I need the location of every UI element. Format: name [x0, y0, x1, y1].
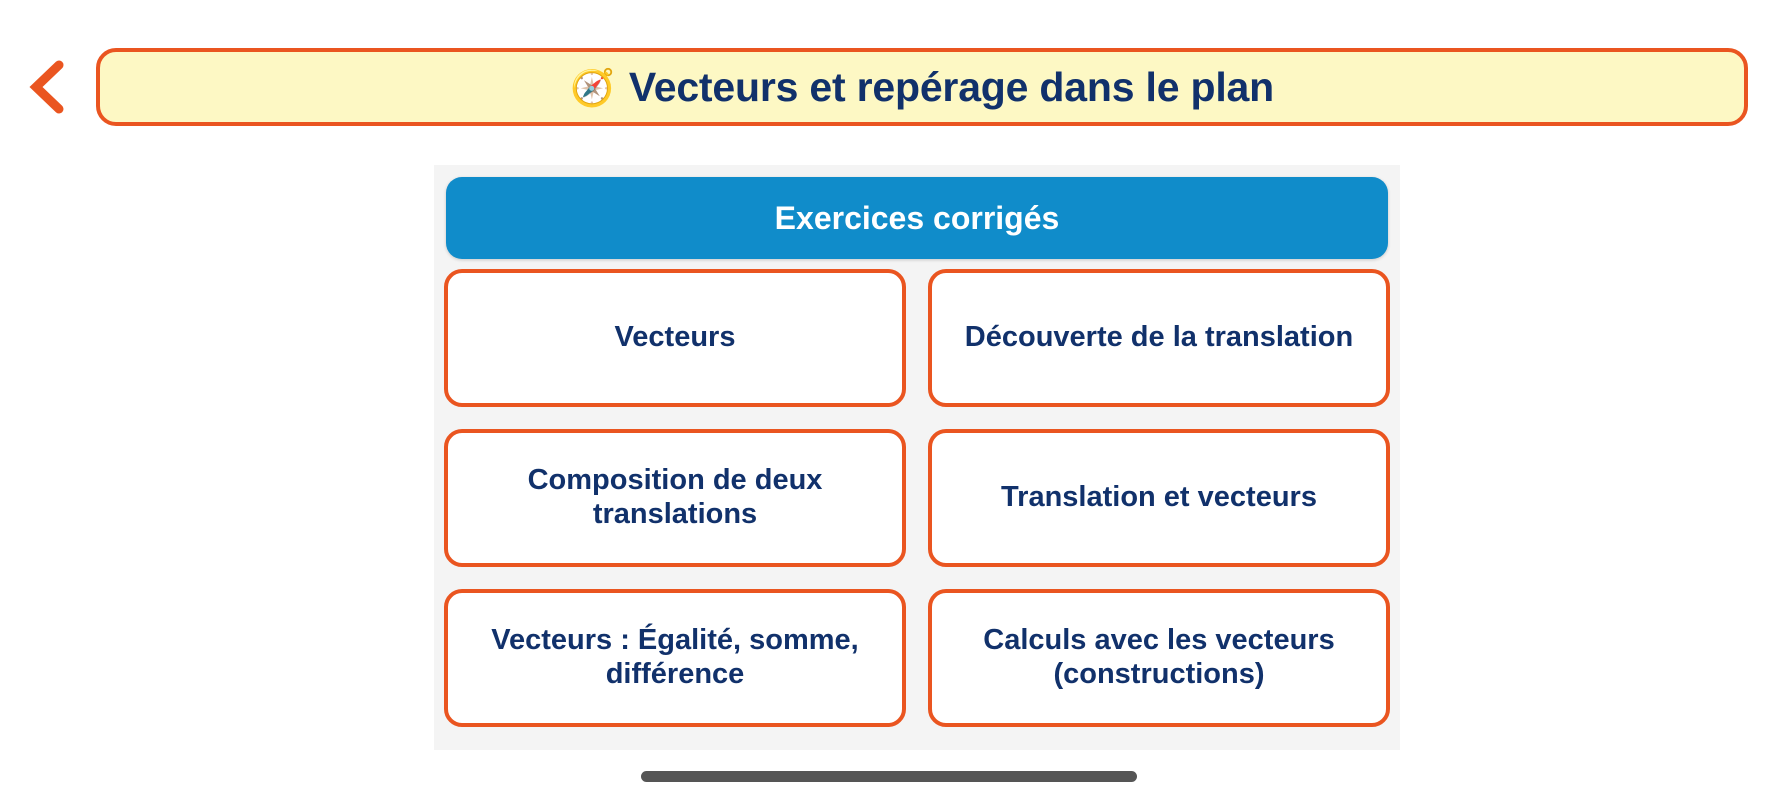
- card-label: Vecteurs : Égalité, somme, différence: [466, 624, 884, 692]
- card-label: Calculs avec les vecteurs (constructions…: [950, 624, 1368, 692]
- card-vecteurs-egalite-somme-difference[interactable]: Vecteurs : Égalité, somme, différence: [444, 589, 906, 727]
- section-header-exercices-corriges[interactable]: Exercices corrigés: [446, 177, 1388, 259]
- chevron-left-icon: [28, 59, 68, 115]
- app-header: 🧭 Vecteurs et repérage dans le plan: [0, 48, 1778, 126]
- home-indicator[interactable]: [641, 771, 1137, 782]
- card-label: Vecteurs: [615, 321, 736, 355]
- card-decouverte-de-la-translation[interactable]: Découverte de la translation: [928, 269, 1390, 407]
- card-grid: Vecteurs Découverte de la translation Co…: [444, 269, 1390, 727]
- card-vecteurs[interactable]: Vecteurs: [444, 269, 906, 407]
- section-header-label: Exercices corrigés: [775, 200, 1060, 237]
- card-label: Composition de deux translations: [466, 464, 884, 532]
- page-title-banner: 🧭 Vecteurs et repérage dans le plan: [96, 48, 1748, 126]
- content-panel: Exercices corrigés Vecteurs Découverte d…: [434, 165, 1400, 750]
- compass-emoji: 🧭: [570, 70, 615, 106]
- card-label: Découverte de la translation: [965, 321, 1353, 355]
- card-translation-et-vecteurs[interactable]: Translation et vecteurs: [928, 429, 1390, 567]
- page-title: Vecteurs et repérage dans le plan: [629, 64, 1274, 111]
- card-label: Translation et vecteurs: [1001, 481, 1317, 515]
- card-composition-de-deux-translations[interactable]: Composition de deux translations: [444, 429, 906, 567]
- back-button[interactable]: [0, 48, 96, 126]
- card-calculs-avec-les-vecteurs-constructions[interactable]: Calculs avec les vecteurs (constructions…: [928, 589, 1390, 727]
- content-panel-inner: Exercices corrigés Vecteurs Découverte d…: [434, 165, 1400, 727]
